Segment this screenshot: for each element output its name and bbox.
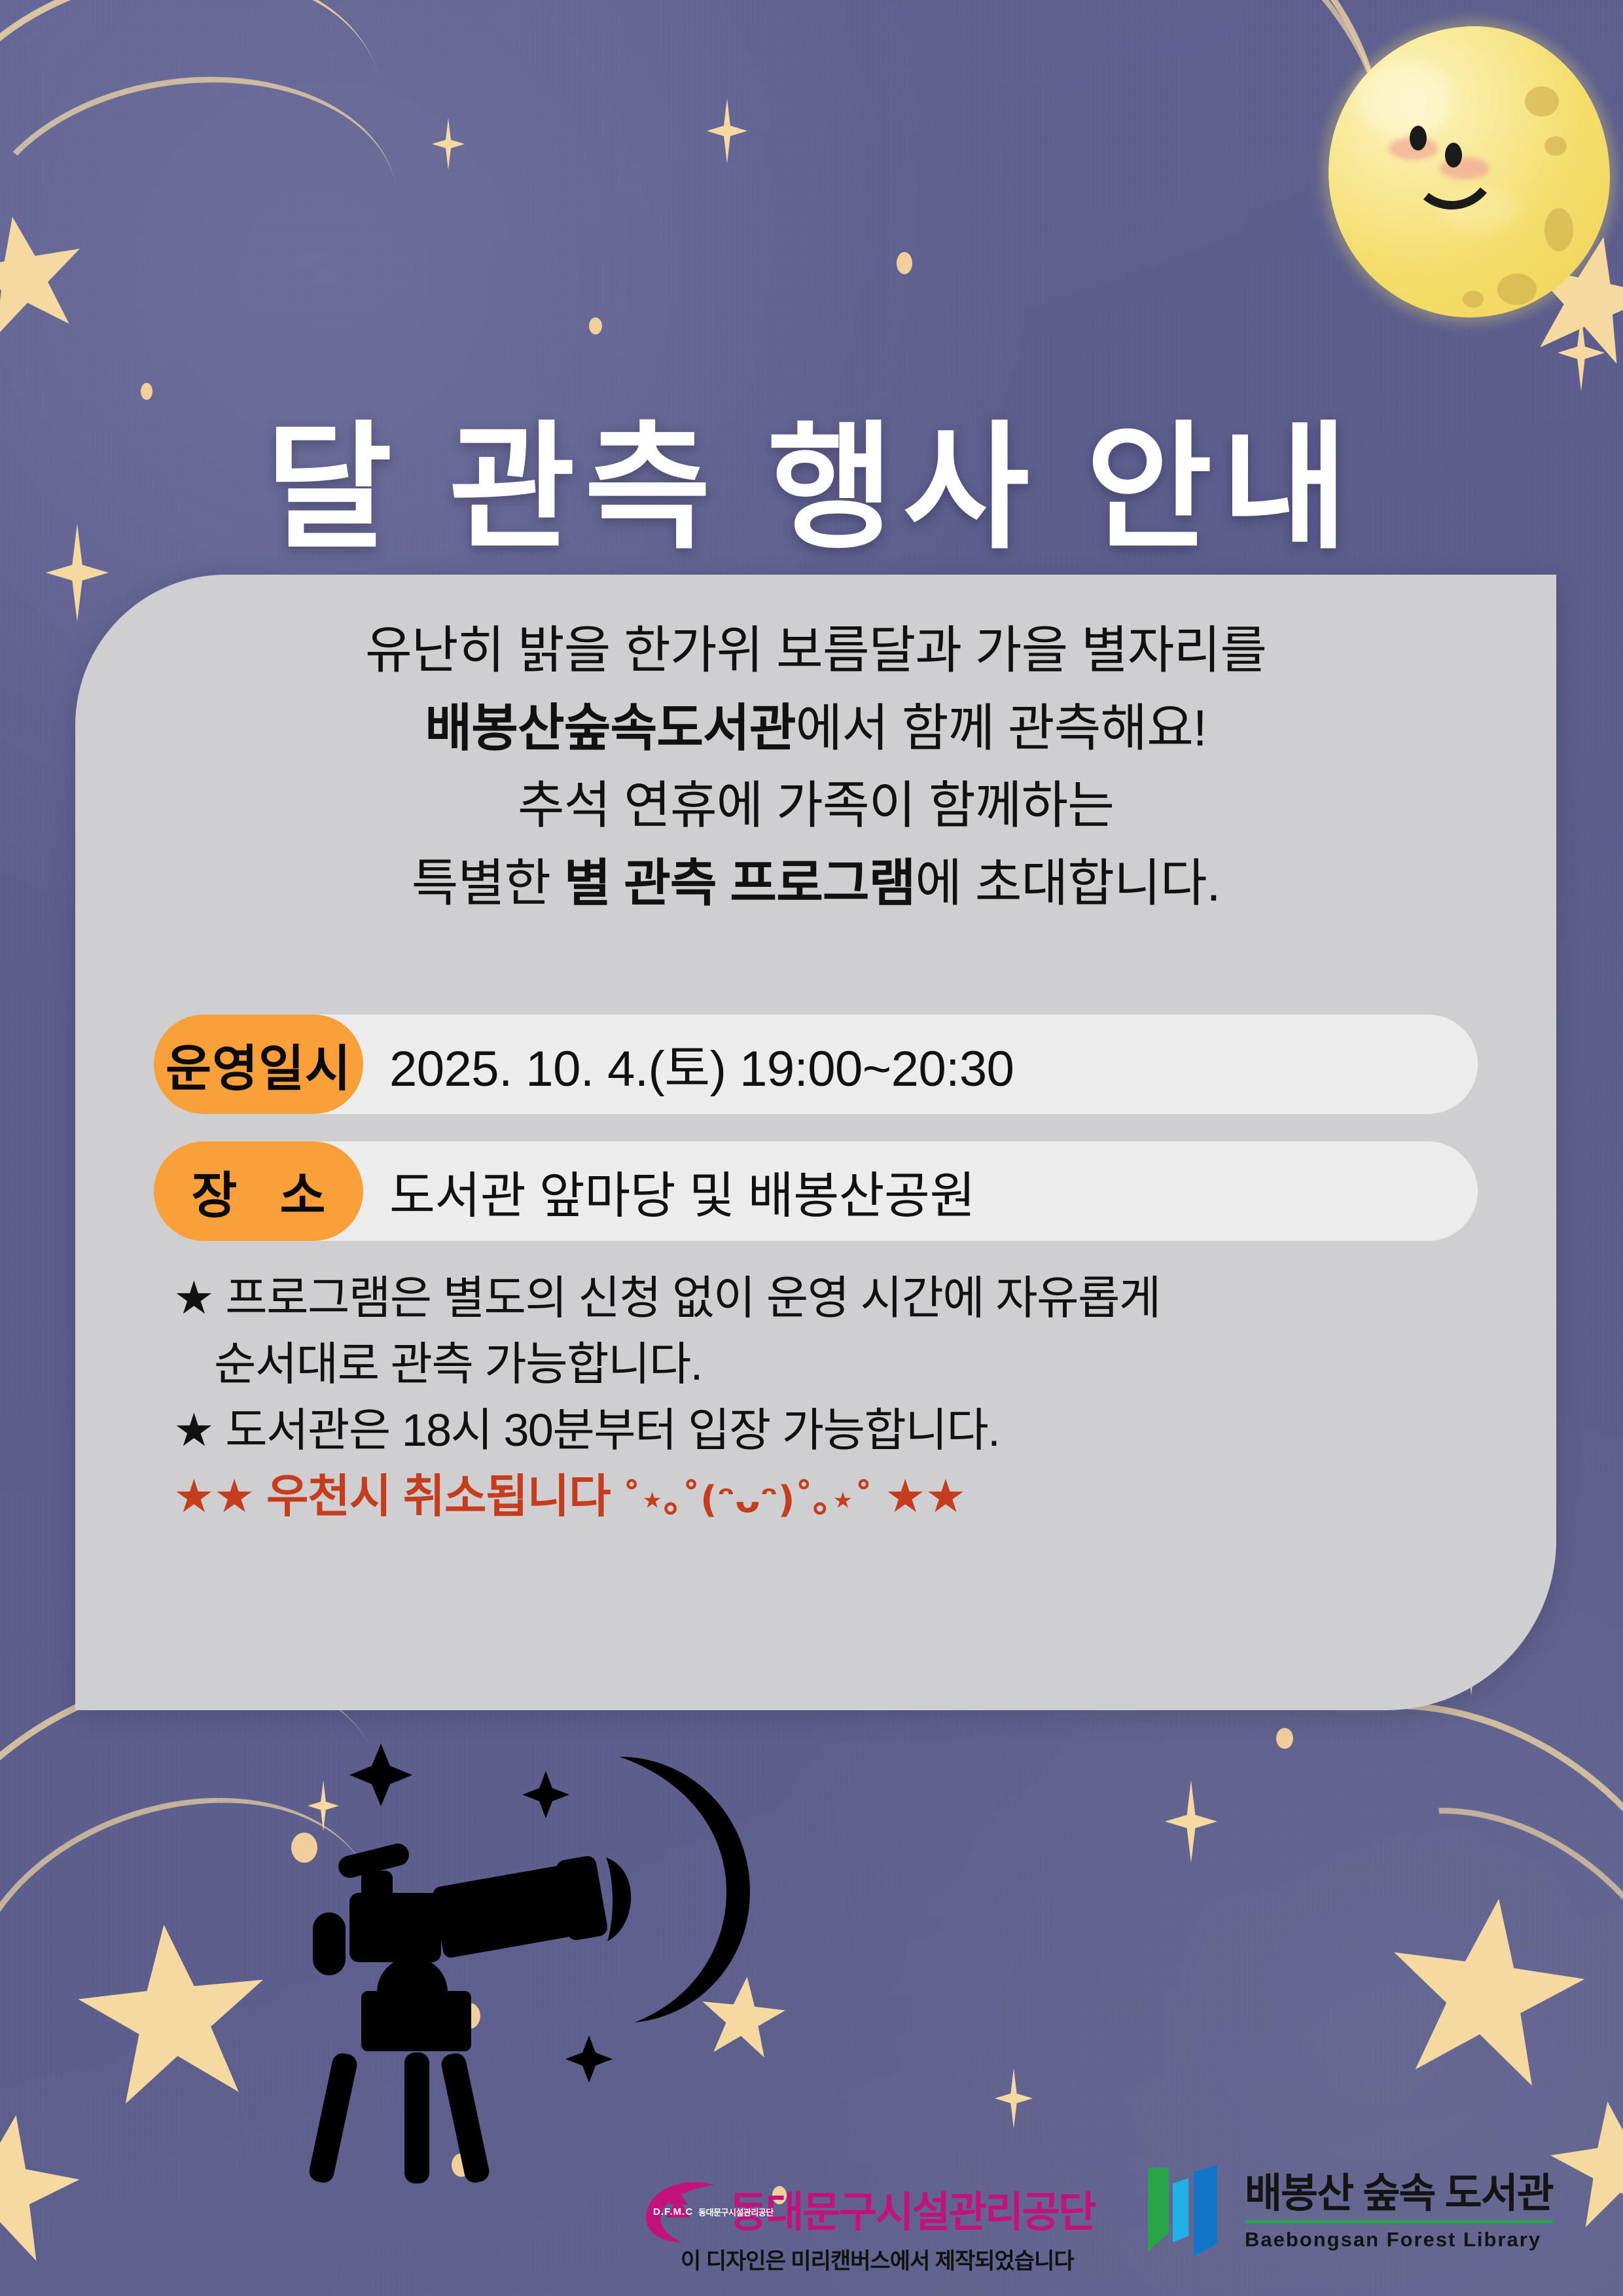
dfmc-abbrev: D.F.M.C xyxy=(653,2206,693,2217)
note-line-3: ★ 도서관은 18시 30분부터 입장 가능합니다. xyxy=(173,1401,1497,1460)
moon-highlight xyxy=(1356,60,1454,139)
lead-line-4-b: 에 초대합니다. xyxy=(915,854,1220,912)
dfmc-abbrev-kor: 동대문구시설관리공단 xyxy=(698,2206,774,2218)
program-name-bold: 별 관측 프로그램 xyxy=(564,854,916,912)
content-card: 유난히 밝을 한가위 보름달과 가을 별자리를 배봉산숲속도서관에서 함께 관측… xyxy=(75,575,1556,1710)
moon-crater xyxy=(1544,208,1573,251)
warning-prefix: ★★ 우천시 취소됩니다 xyxy=(173,1471,622,1522)
baebongsan-name-eng: Baebongsan Forest Library xyxy=(1245,2229,1553,2250)
telescope-body-rear xyxy=(349,1893,441,1962)
moon-body xyxy=(1329,26,1610,317)
info-row-datetime: 운영일시 2025. 10. 4.(토) 19:00~20:30 xyxy=(154,1014,1478,1114)
sparkle-icon xyxy=(565,2036,613,2083)
moon-crater xyxy=(1497,274,1537,305)
note-line-2: 순서대로 관측 가능합니다. xyxy=(173,1335,1497,1394)
lead-line-1-text: 유난히 밝을 한가위 보름달과 가을 별자리를 xyxy=(365,621,1266,679)
info-row-place: 장 소 도서관 앞마당 및 배봉산공원 xyxy=(154,1141,1478,1241)
lead-line-4-a: 특별한 xyxy=(412,854,564,912)
note-line-1: ★ 프로그램은 별도의 신청 없이 운영 시간에 자유롭게 xyxy=(173,1268,1497,1328)
info-row-label-datetime: 운영일시 xyxy=(154,1014,363,1114)
baebongsan-emblem-icon xyxy=(1144,2164,1228,2259)
logo-dongdaemun: D.F.M.C 동대문구시설관리공단 동대문구시설관리공단 xyxy=(641,2181,1095,2244)
baebongsan-divider xyxy=(1245,2220,1553,2223)
footer: D.F.M.C 동대문구시설관리공단 동대문구시설관리공단 이 디자인은 미리캔… xyxy=(0,2156,1623,2287)
library-name-bold: 배봉산숲속도서관 xyxy=(425,699,795,757)
moon-crater xyxy=(1525,86,1559,117)
page-title: 달 관측 행사 안내 xyxy=(0,420,1623,557)
info-row-list: 운영일시 2025. 10. 4.(토) 19:00~20:30 장 소 도서관… xyxy=(154,1014,1478,1268)
lead-line-2: 배봉산숲속도서관에서 함께 관측해요! xyxy=(75,689,1556,767)
smiling-moon-illustration xyxy=(1302,13,1616,340)
lead-line-3-text: 추석 연휴에 가족이 함께하는 xyxy=(518,776,1114,834)
sparkle-icon xyxy=(522,1771,569,1818)
lead-line-3: 추석 연휴에 가족이 함께하는 xyxy=(75,766,1556,844)
telescope-illustration xyxy=(281,1728,792,2186)
baebongsan-text-block: 배봉산 숲속 도서관 Baebongsan Forest Library xyxy=(1245,2174,1553,2250)
lead-line-1: 유난히 밝을 한가위 보름달과 가을 별자리를 xyxy=(75,611,1556,689)
design-credit: 이 디자인은 미리캔버스에서 제작되었습니다 xyxy=(681,2243,1074,2275)
moon-eye-left xyxy=(1410,126,1427,151)
moon-crater xyxy=(1463,291,1484,308)
warning-suffix: ★★ xyxy=(872,1471,965,1522)
sparkle-icon xyxy=(349,1744,412,1806)
crescent-moon-icon xyxy=(619,1757,750,2022)
telescope-tube xyxy=(432,1865,576,1959)
telescope-objective-lens xyxy=(606,1857,631,1941)
lead-line-2-rest: 에서 함께 관측해요! xyxy=(796,699,1207,757)
warning-kaomoji: ˚⋆｡˚(ᵔᴗᵔ)˚｡⋆˚ xyxy=(622,1479,872,1521)
baebongsan-name-kor: 배봉산 숲속 도서관 xyxy=(1245,2174,1553,2214)
dfmc-name: 동대문구시설관리공단 xyxy=(729,2191,1095,2233)
logo-baebongsan: 배봉산 숲속 도서관 Baebongsan Forest Library xyxy=(1144,2164,1553,2259)
lead-line-4: 특별한 별 관측 프로그램에 초대합니다. xyxy=(75,844,1556,922)
telescope-tripod-head xyxy=(361,1991,471,2051)
telescope-counterweight xyxy=(313,1912,346,1975)
lead-paragraph: 유난히 밝을 한가위 보름달과 가을 별자리를 배봉산숲속도서관에서 함께 관측… xyxy=(75,611,1556,922)
info-row-value-datetime: 2025. 10. 4.(토) 19:00~20:30 xyxy=(389,1014,1014,1114)
moon-crater xyxy=(1544,136,1567,156)
info-row-value-place: 도서관 앞마당 및 배봉산공원 xyxy=(389,1141,975,1241)
dfmc-emblem-icon: D.F.M.C 동대문구시설관리공단 xyxy=(641,2181,720,2244)
note-line-warning: ★★ 우천시 취소됩니다 ˚⋆｡˚(ᵔᴗᵔ)˚｡⋆˚ ★★ xyxy=(173,1467,1497,1526)
info-row-label-place: 장 소 xyxy=(154,1141,363,1241)
notes-block: ★ 프로그램은 별도의 신청 없이 운영 시간에 자유롭게 순서대로 관측 가능… xyxy=(173,1268,1497,1533)
poster-root: 달 관측 행사 안내 유난히 밝을 한가위 보름달과 가을 별자리를 배봉산숲속… xyxy=(0,0,1623,2296)
dfmc-abbrev-group: D.F.M.C 동대문구시설관리공단 xyxy=(653,2206,774,2218)
